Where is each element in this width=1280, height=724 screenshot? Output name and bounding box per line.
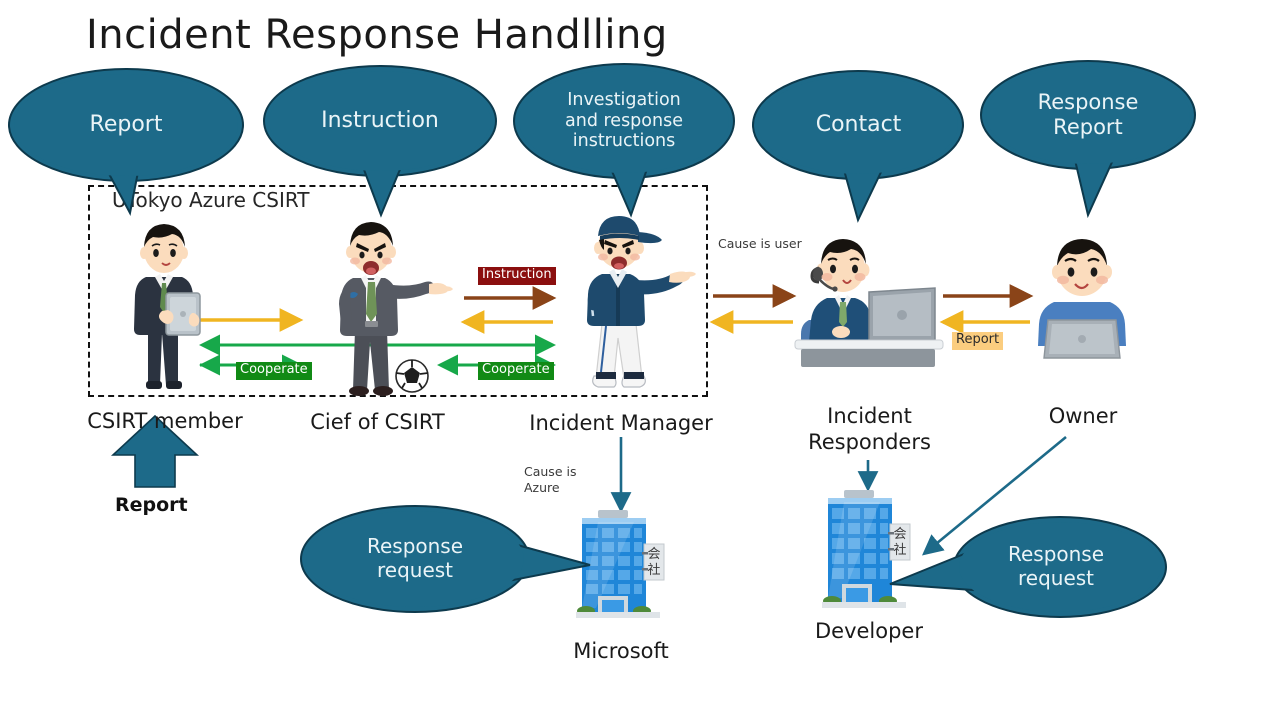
callout-response-report-label: Response Report	[1028, 90, 1149, 140]
callout-contact-label: Contact	[806, 112, 912, 138]
diagram-canvas: Incident Response Handlling UTokyo Azure…	[0, 0, 1280, 720]
label-incident-manager: Incident Manager	[515, 410, 727, 436]
figure-csirt-member	[118, 215, 210, 395]
svg-text:社: 社	[893, 542, 906, 558]
callout-response-request-microsoft[interactable]: Response request	[300, 505, 530, 613]
building-sign-developer: 会	[893, 527, 906, 542]
building-sign-microsoft: 会	[647, 547, 660, 562]
tag-report-right: Report	[952, 332, 1003, 350]
tag-cooperate-left: Cooperate	[236, 362, 312, 380]
callout-report[interactable]: Report	[8, 68, 244, 182]
svg-text:社: 社	[647, 562, 660, 578]
figure-cief-of-csirt	[325, 218, 461, 396]
callout-investigation-label: Investigation and response instructions	[555, 90, 693, 152]
tag-instruction: Instruction	[478, 267, 556, 285]
note-cause-is-azure: Cause is Azure	[524, 464, 576, 497]
label-csirt-member: CSIRT member	[70, 408, 260, 434]
label-cief-of-csirt: Cief of CSIRT	[285, 409, 470, 435]
note-cause-is-user: Cause is user	[718, 236, 802, 252]
label-owner: Owner	[1000, 403, 1166, 429]
label-microsoft: Microsoft	[536, 638, 706, 664]
callout-response-request-developer-label: Response request	[998, 543, 1114, 590]
label-incident-responders: Incident Responders	[782, 403, 957, 456]
label-report-inbound: Report	[115, 494, 188, 516]
callout-report-label: Report	[80, 112, 173, 138]
callout-response-request-developer[interactable]: Response request	[945, 516, 1167, 618]
figure-owner	[1030, 228, 1134, 360]
tag-cooperate-right: Cooperate	[478, 362, 554, 380]
callout-contact[interactable]: Contact	[752, 70, 965, 180]
callout-instruction-label: Instruction	[311, 108, 449, 134]
label-developer: Developer	[786, 618, 952, 644]
callout-response-request-microsoft-label: Response request	[357, 535, 473, 582]
callout-investigation[interactable]: Investigation and response instructions	[513, 63, 735, 179]
callout-response-report[interactable]: Response Report	[980, 60, 1196, 170]
figure-incident-manager	[572, 212, 710, 396]
figure-developer-building: 会 社	[816, 488, 922, 610]
callout-instruction[interactable]: Instruction	[263, 65, 497, 177]
figure-incident-responders	[795, 228, 943, 368]
